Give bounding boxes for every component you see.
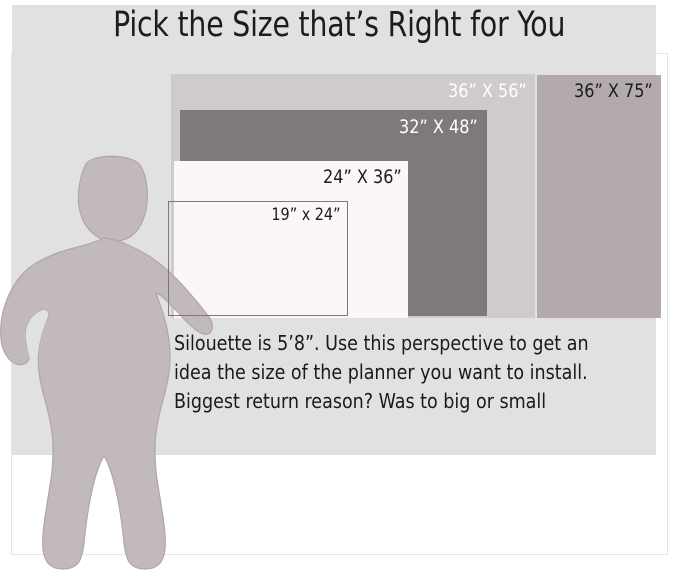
- caption-line-1: Silouette is 5’8”. Use this perspective …: [174, 329, 640, 358]
- poster-canvas: Pick the Size that’s Right for You 36” X…: [0, 0, 679, 570]
- size-box-19x24[interactable]: 19” x 24”: [168, 201, 348, 316]
- size-box-36x75[interactable]: 36” X 75”: [537, 75, 661, 318]
- size-label-19x24: 19” x 24”: [272, 207, 341, 224]
- caption-line-2: idea the size of the planner you want to…: [174, 358, 640, 387]
- size-comparison-stage: 36” X 75” 36” X 56” 32” X 48” 24” X 36”: [0, 0, 679, 570]
- size-label-24x36: 24” X 36”: [323, 168, 402, 187]
- caption-line-3: Biggest return reason? Was to big or sma…: [174, 387, 640, 416]
- size-label-36x75: 36” X 75”: [574, 82, 653, 101]
- size-label-32x48: 32” X 48”: [399, 118, 478, 137]
- caption-paragraph: Silouette is 5’8”. Use this perspective …: [174, 329, 640, 416]
- size-label-36x56: 36” X 56”: [448, 82, 527, 101]
- page-title: Pick the Size that’s Right for You: [113, 8, 565, 43]
- title-bar: Pick the Size that’s Right for You: [0, 0, 679, 50]
